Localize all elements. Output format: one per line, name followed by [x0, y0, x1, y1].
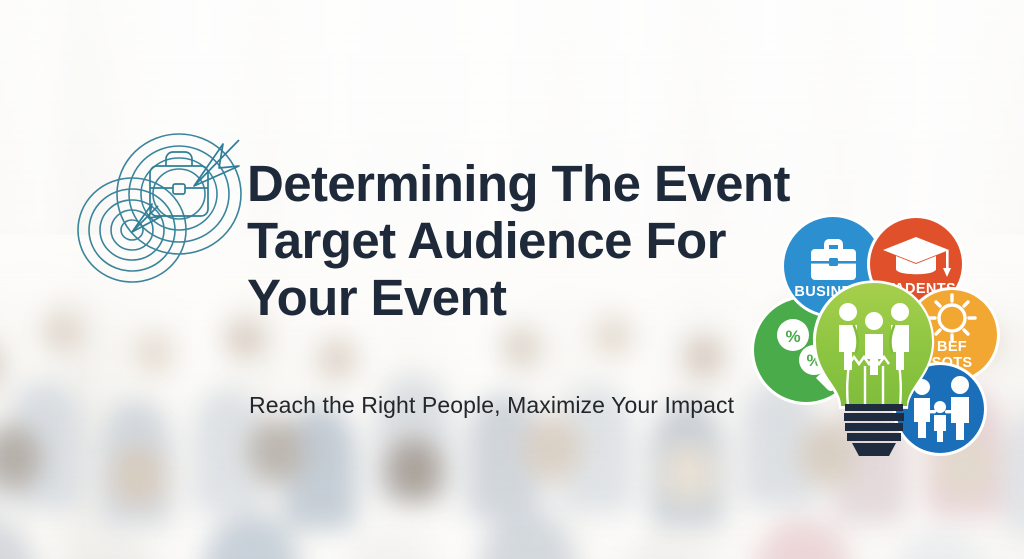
- lightbulb-audience-infographic: % % BUSINESS: [744, 204, 1006, 462]
- title-line-2: Target Audience For: [247, 212, 787, 269]
- title-line-1: Determining The Event: [247, 155, 787, 212]
- bubble-label-bef: BEF: [937, 339, 967, 355]
- page-title: Determining The Event Target Audience Fo…: [247, 155, 787, 326]
- subtitle: Reach the Right People, Maximize Your Im…: [249, 391, 734, 420]
- group-of-people-icon: [839, 303, 909, 375]
- event-banner: Determining The Event Target Audience Fo…: [0, 0, 1024, 559]
- title-line-3: Your Event: [247, 269, 787, 326]
- svg-text:%: %: [785, 327, 800, 346]
- target-briefcase-icon: [76, 122, 251, 294]
